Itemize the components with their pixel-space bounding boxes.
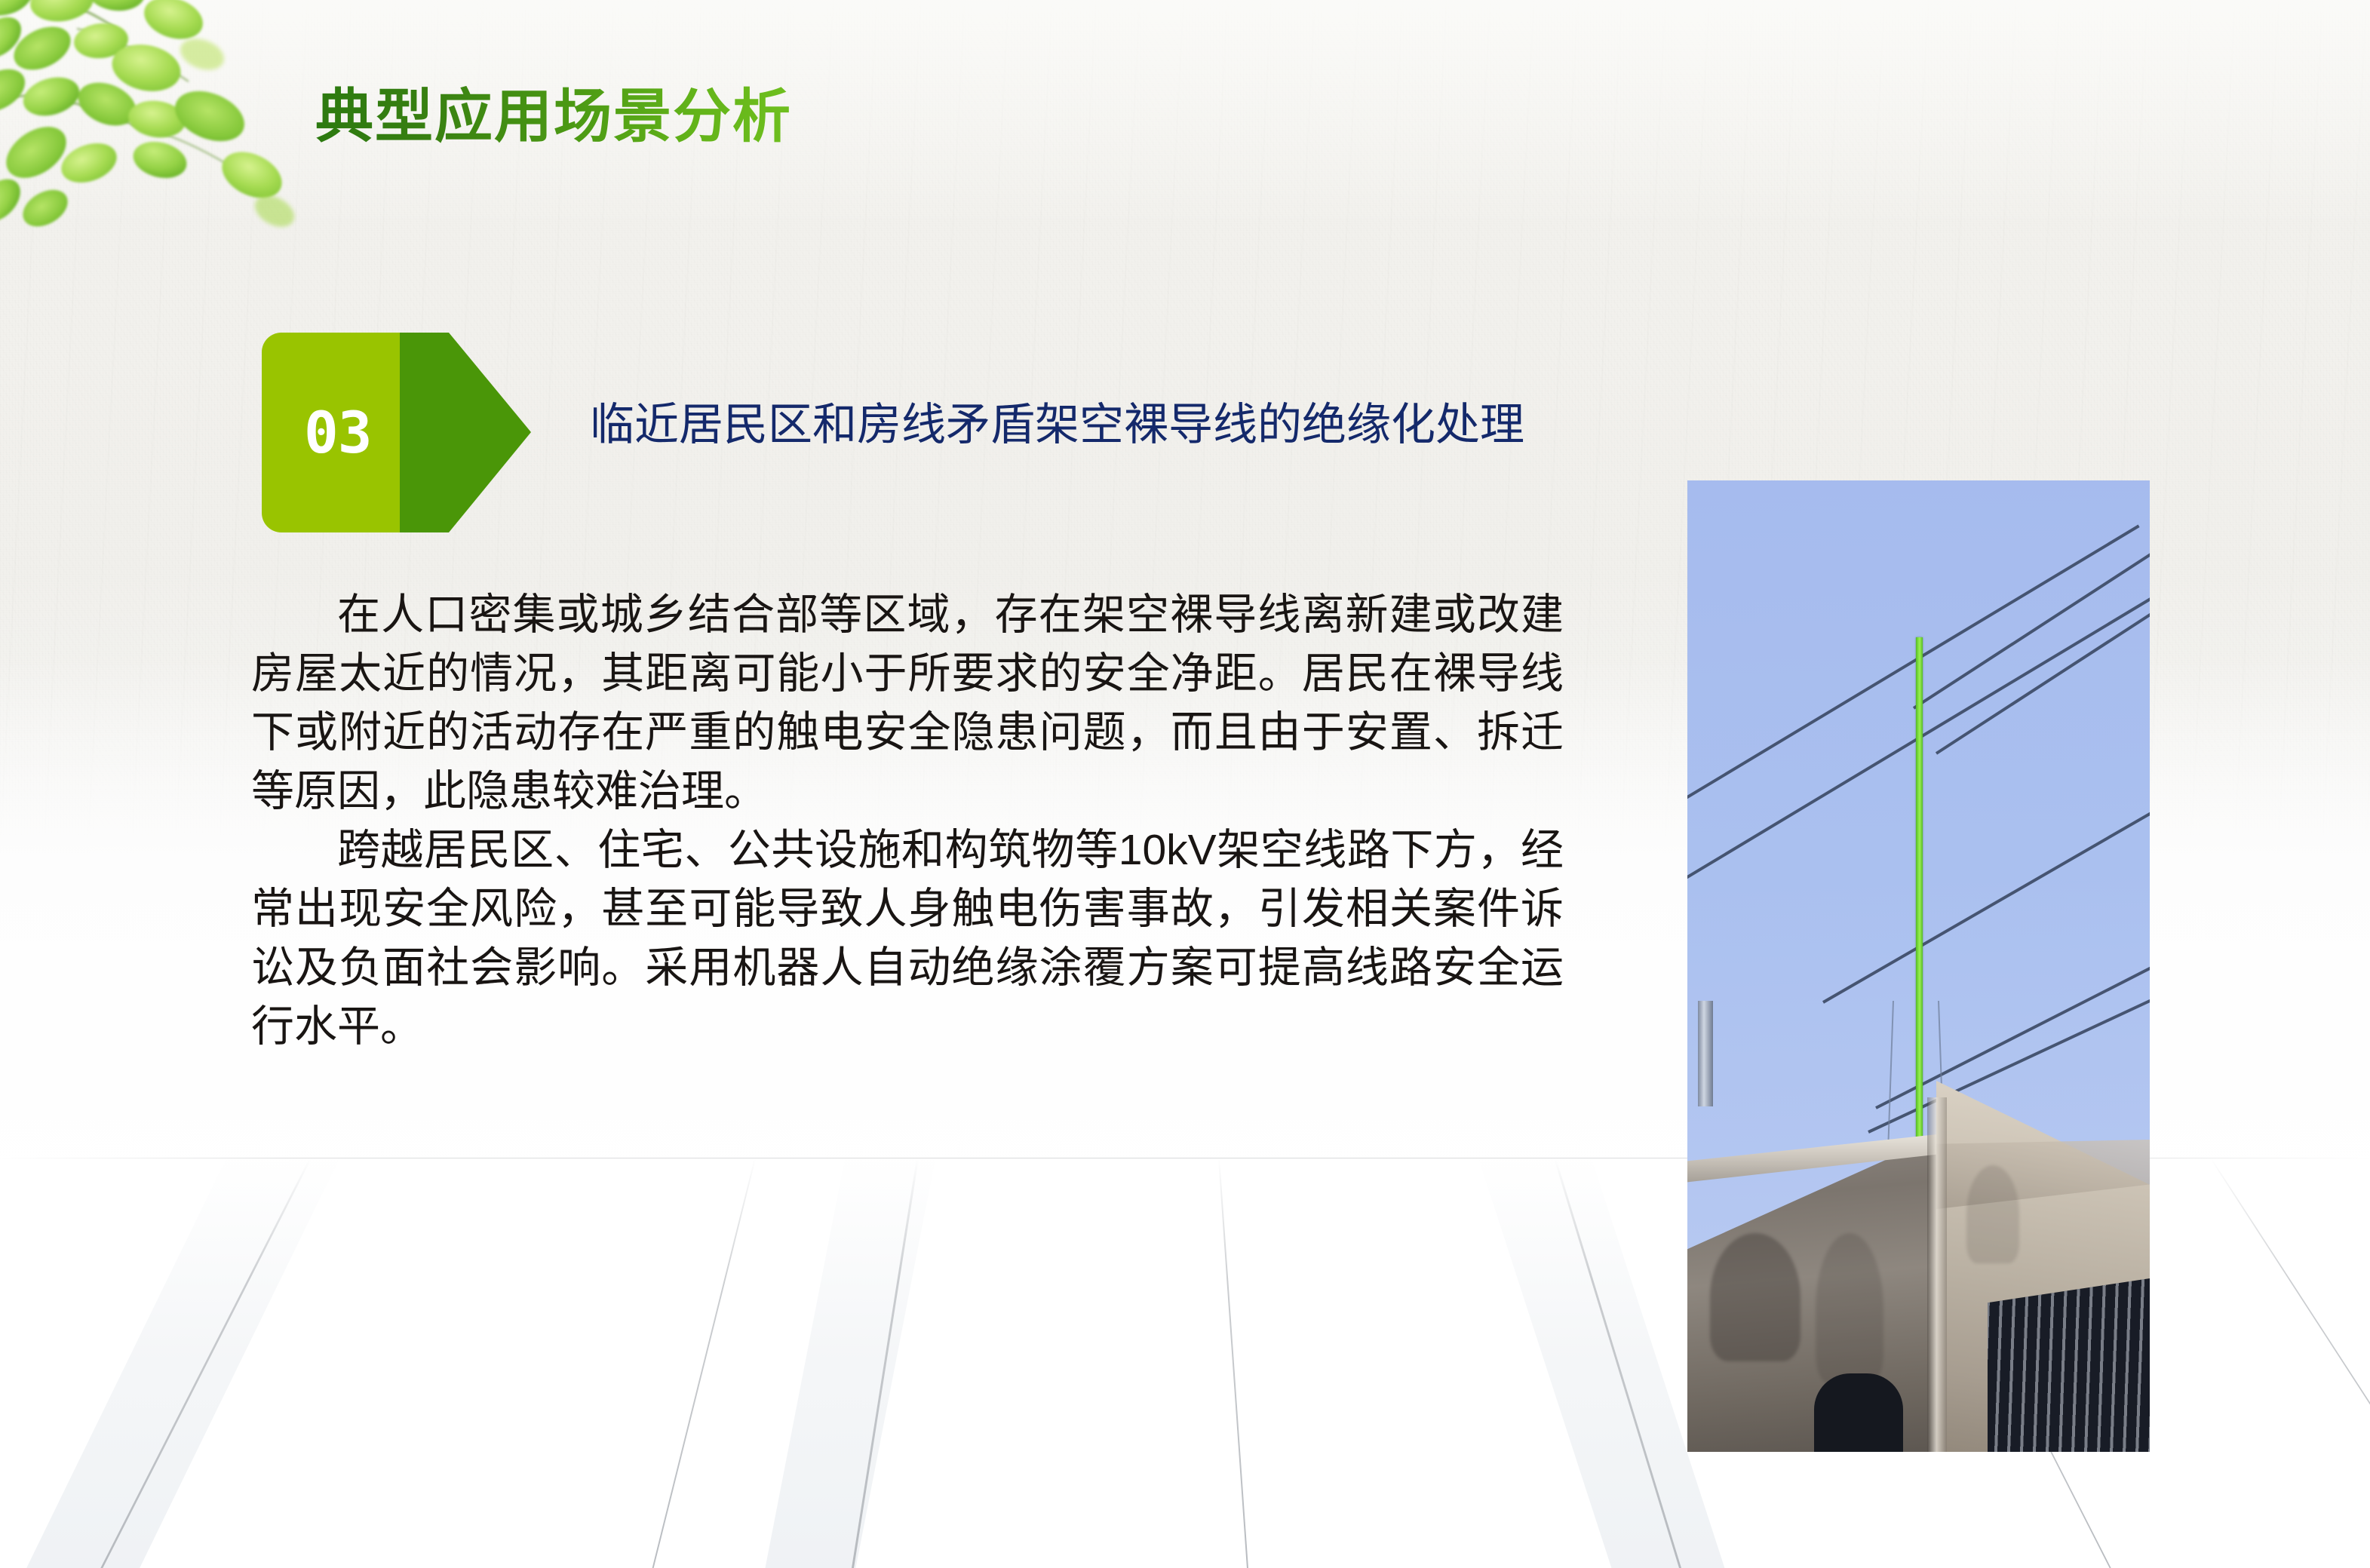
building-grime-1 xyxy=(1710,1233,1801,1361)
scene-photo xyxy=(1687,480,2150,1452)
building-grime-2 xyxy=(1816,1233,1883,1384)
photo-building xyxy=(1687,1060,2150,1452)
body-paragraph-2: 跨越居民区、住宅、公共设施和构筑物等10kV架空线路下方，经常出现安全风险，甚至… xyxy=(251,821,1564,1056)
body-copy: 在人口密集或城乡结合部等区域，存在架空裸导线离新建或改建房屋太近的情况，其距离可… xyxy=(251,585,1564,1056)
body-paragraph-1: 在人口密集或城乡结合部等区域，存在架空裸导线离新建或改建房屋太近的情况，其距离可… xyxy=(251,585,1564,821)
slide-canvas: 典型应用场景分析 03 临近居民区和房线矛盾架空裸导线的绝缘化处理 在人口密集或… xyxy=(0,0,2370,1568)
building-dark-opening xyxy=(1814,1373,1903,1452)
section-heading: 临近居民区和房线矛盾架空裸导线的绝缘化处理 xyxy=(590,398,1524,452)
building-corner-column xyxy=(1927,1097,1947,1452)
section-number-badge: 03 xyxy=(262,333,531,532)
building-grime-3 xyxy=(1966,1165,2019,1263)
page-title: 典型应用场景分析 xyxy=(315,84,792,149)
building-barred-window xyxy=(1988,1278,2150,1452)
section-number-label: 03 xyxy=(304,333,402,532)
